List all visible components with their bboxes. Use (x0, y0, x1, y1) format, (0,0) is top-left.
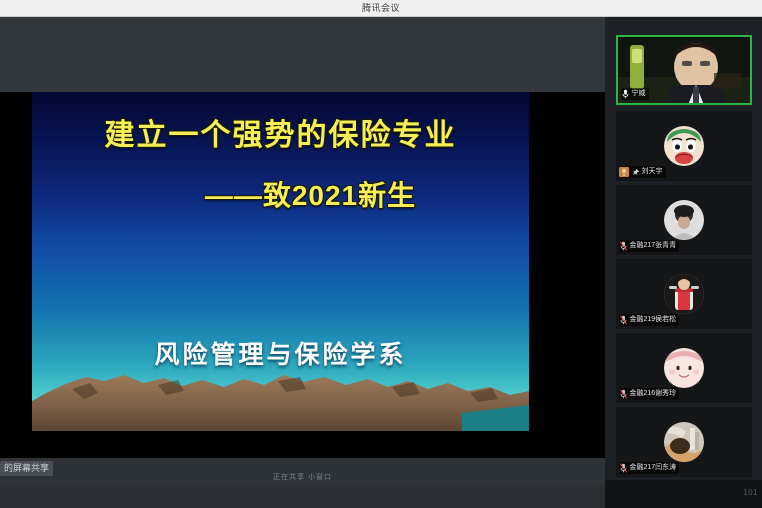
participant-tile[interactable]: 宁威 (616, 35, 752, 105)
slide-title: 建立一个强势的保险专业 (32, 110, 529, 154)
participant-label: 宁威 (621, 88, 649, 100)
participant-label: 金融216谢秀玲 (619, 388, 680, 400)
status-right-text: 101 (743, 488, 758, 497)
participant-tile[interactable]: 金融217张青青 (616, 185, 752, 255)
microphone-muted-icon (619, 241, 628, 251)
participant-name: 金融219侯若松 (630, 314, 677, 326)
photo-avatar-icon (664, 200, 704, 240)
participant-name: 金融216谢秀玲 (630, 388, 677, 400)
shared-screen-stage[interactable]: 建立一个强势的保险专业 ——致2021新生 风险管理与保险学系 (0, 17, 605, 485)
participant-tile[interactable]: 刘天宇 (616, 111, 752, 181)
title-bar: 腾讯会议 (0, 0, 762, 17)
microphone-icon (621, 89, 630, 99)
avatar (664, 200, 704, 240)
pin-icon (631, 168, 640, 177)
participant-label: 金融217闫东涛 (619, 462, 680, 474)
avatar (664, 274, 704, 314)
participant-label: 金融217张青青 (619, 240, 680, 252)
participant-label: 刘天宇 (619, 166, 666, 178)
meeting-window: 腾讯会议 建立一个强势的保险专业 ——致2021新生 风险管理与保险学系 (0, 0, 762, 508)
cartoon-avatar-icon (664, 126, 704, 166)
stage-bottom-bar: 的屏幕共享 正在共享 小窗口 (0, 458, 605, 485)
slide-subtitle: ——致2021新生 (32, 174, 529, 214)
screen-share-letterbox: 建立一个强势的保险专业 ——致2021新生 风险管理与保险学系 (0, 92, 605, 458)
avatar (664, 422, 704, 462)
photo-avatar-icon (664, 274, 704, 314)
participant-name: 宁威 (632, 88, 646, 100)
participant-label: 金融219侯若松 (619, 314, 680, 326)
mountain-silhouette-icon (32, 361, 529, 431)
presentation-slide: 建立一个强势的保险专业 ——致2021新生 风险管理与保险学系 (32, 92, 529, 431)
photo-avatar-icon (664, 422, 704, 462)
microphone-muted-icon (619, 315, 628, 325)
toolbar-hint-text: 正在共享 小窗口 (0, 472, 605, 482)
avatar (664, 126, 704, 166)
app-title: 腾讯会议 (0, 0, 762, 16)
host-badge-icon (619, 167, 629, 177)
filmstrip-bottom-bar: 101 (605, 480, 762, 508)
cartoon-avatar-icon (664, 348, 704, 388)
participant-name: 刘天宇 (642, 166, 663, 178)
participant-tile[interactable]: 金融216谢秀玲 (616, 333, 752, 403)
participant-tile[interactable]: 金融217闫东涛 (616, 407, 752, 477)
microphone-muted-icon (619, 389, 628, 399)
avatar (664, 348, 704, 388)
microphone-muted-icon (619, 463, 628, 473)
participant-name: 金融217张青青 (630, 240, 677, 252)
participant-name: 金融217闫东涛 (630, 462, 677, 474)
participant-filmstrip[interactable]: 宁威 (605, 17, 762, 508)
participant-tile[interactable]: 金融219侯若松 (616, 259, 752, 329)
